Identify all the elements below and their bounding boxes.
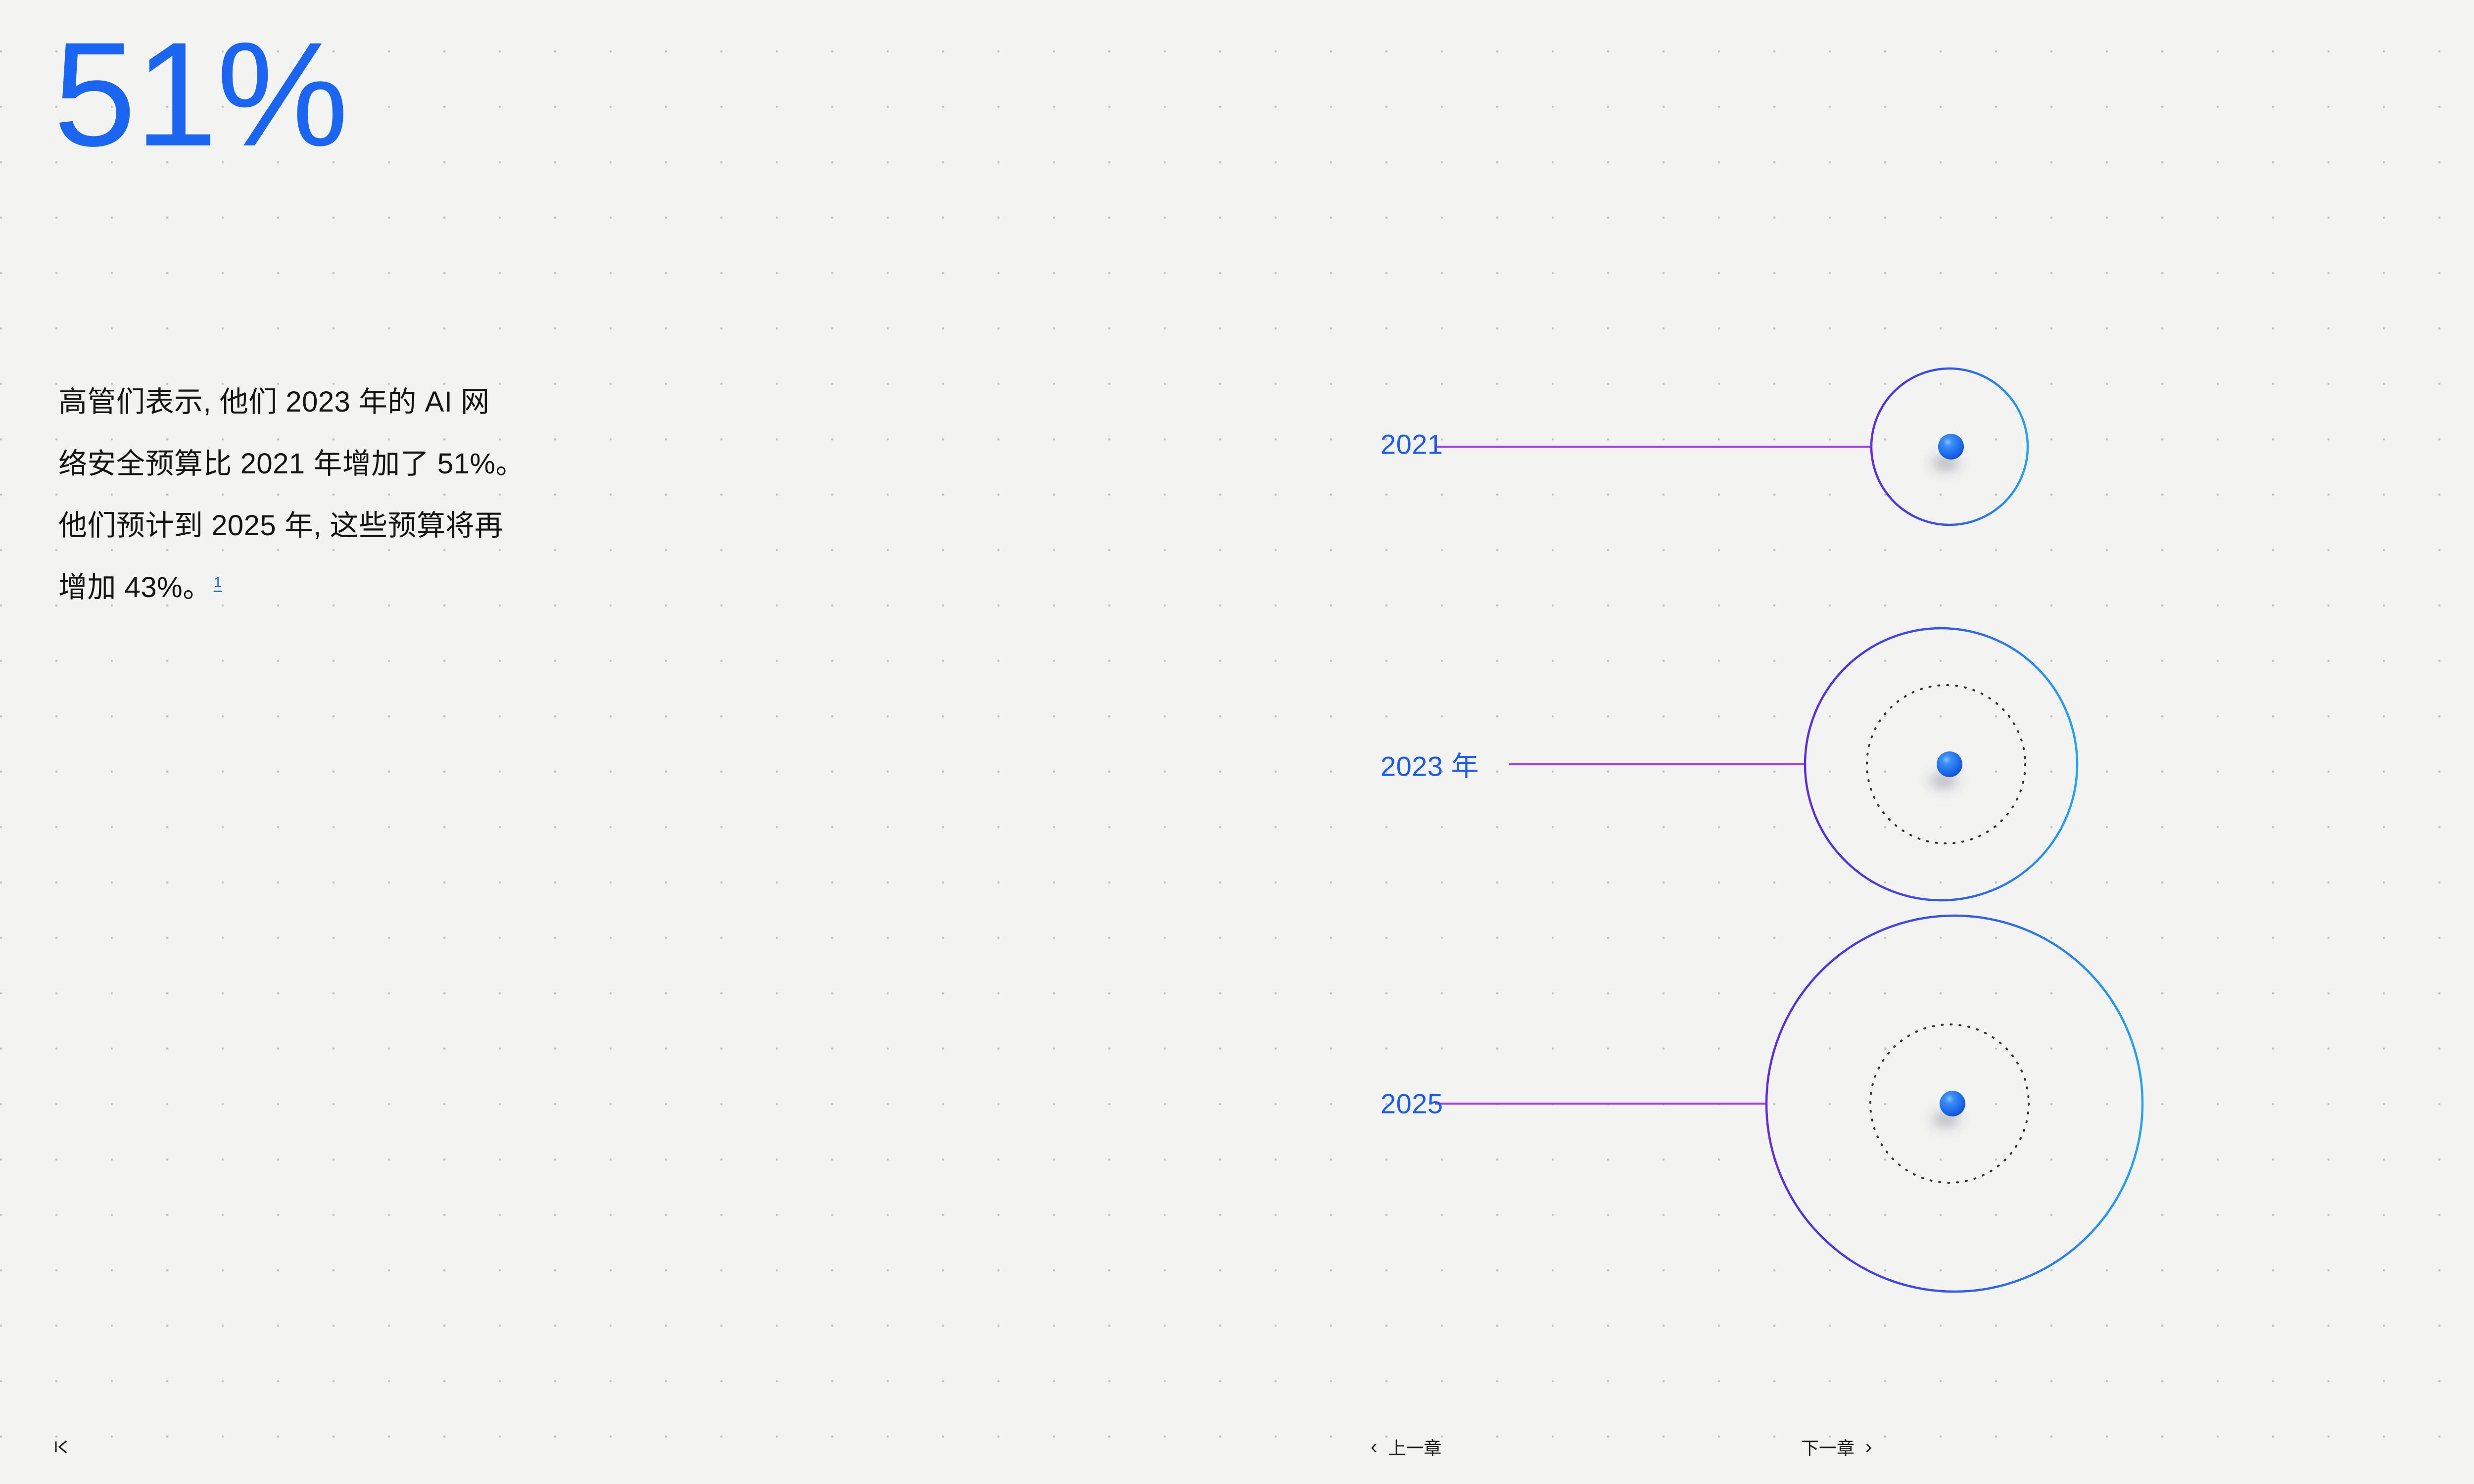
- center-sphere-2025: [1940, 1091, 1965, 1116]
- previous-chapter-label: 上一章: [1388, 1434, 1441, 1460]
- body-line-3: 他们预计到 2025 年, 这些预算将再: [58, 510, 504, 542]
- body-line-4: 增加 43%。: [58, 571, 212, 603]
- bubble-label-2025: 2025: [1380, 1088, 1443, 1120]
- bubble-diagram: [1336, 297, 2276, 1336]
- footer-nav: ‹ 上一章 下一章 › 8: [0, 1410, 2474, 1484]
- bubble-label-2021: 2021: [1380, 428, 1443, 461]
- bubble-node-2023: [1509, 628, 2077, 900]
- center-sphere-2023: [1937, 751, 1962, 777]
- bubble-node-2021: [1435, 369, 2028, 525]
- go-to-start-button[interactable]: [53, 1437, 70, 1457]
- page-title: 51%: [53, 20, 347, 168]
- body-paragraph: 高管们表示, 他们 2023 年的 AI 网 络安全预算比 2021 年增加了 …: [58, 371, 870, 618]
- previous-chapter-button[interactable]: ‹ 上一章: [1371, 1434, 1441, 1460]
- chevron-left-icon: ‹: [1371, 1437, 1377, 1457]
- next-chapter-label: 下一章: [1801, 1434, 1855, 1460]
- skip-to-start-icon: [53, 1437, 70, 1457]
- body-line-2: 络安全预算比 2021 年增加了 51%。: [58, 448, 524, 480]
- bubble-label-2023: 2023 年: [1380, 744, 1479, 785]
- center-sphere-2021: [1938, 434, 1964, 460]
- footnote-reference[interactable]: 1: [214, 574, 222, 591]
- chevron-right-icon: ›: [1865, 1437, 1872, 1457]
- bubble-node-2025: [1435, 916, 2142, 1292]
- next-chapter-button[interactable]: 下一章 ›: [1801, 1434, 1872, 1460]
- slide-canvas: 51% 高管们表示, 他们 2023 年的 AI 网 络安全预算比 2021 年…: [0, 0, 2474, 1484]
- body-line-1: 高管们表示, 他们 2023 年的 AI 网: [58, 386, 490, 418]
